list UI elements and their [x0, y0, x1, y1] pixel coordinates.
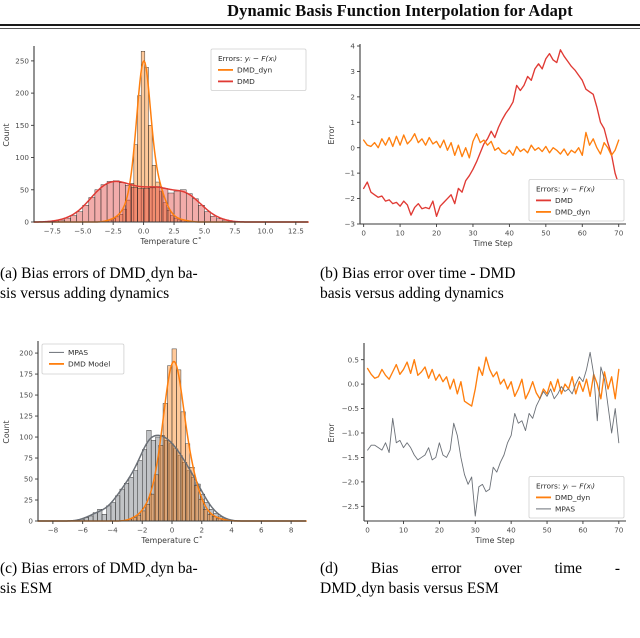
svg-text:Time Step: Time Step [472, 239, 512, 248]
svg-text:−6: −6 [77, 526, 88, 535]
plot-c: −8−6−4−2024680255075100125150175200Tempe… [0, 331, 320, 559]
svg-text:DMD_dyn: DMD_dyn [555, 208, 591, 217]
svg-text:−2.0: −2.0 [342, 477, 360, 486]
svg-text:Temperature C˚: Temperature C˚ [139, 237, 201, 246]
svg-text:4: 4 [350, 42, 355, 51]
svg-text:0: 0 [24, 218, 29, 227]
svg-text:20: 20 [432, 229, 442, 238]
svg-text:0: 0 [350, 143, 355, 152]
svg-text:0.0: 0.0 [138, 227, 150, 236]
svg-text:Errors: yᵢ − F(xᵢ): Errors: yᵢ − F(xᵢ) [536, 185, 595, 194]
subfigure-a: −7.5−5.0−2.50.02.55.07.510.012.505010015… [0, 36, 320, 326]
svg-text:−7.5: −7.5 [44, 227, 61, 236]
svg-text:40: 40 [505, 229, 515, 238]
svg-text:Time Step: Time Step [474, 536, 514, 545]
svg-text:−1.0: −1.0 [342, 429, 360, 438]
caption-a: (a) Bias errors of DMD‸dyn ba- sis versu… [0, 264, 320, 304]
svg-text:Count: Count [2, 123, 11, 146]
svg-text:3: 3 [350, 67, 355, 76]
plot-a: −7.5−5.0−2.50.02.55.07.510.012.505010015… [0, 36, 320, 264]
svg-text:25: 25 [24, 496, 33, 505]
figure-page: Dynamic Basis Function Interpolation for… [0, 0, 640, 638]
svg-text:−2.5: −2.5 [342, 502, 359, 511]
svg-text:200: 200 [15, 89, 29, 98]
subfigure-b: 010203040506070−3−2−101234Time StepError… [320, 36, 640, 326]
svg-text:DMD_dyn: DMD_dyn [237, 66, 273, 75]
caption-d-line2: DMD‸dyn basis versus ESM [320, 580, 499, 597]
svg-text:0: 0 [361, 229, 366, 238]
svg-text:0.0: 0.0 [348, 380, 360, 389]
caption-c-line2: sis ESM [0, 580, 52, 597]
svg-text:Errors: yᵢ − F(xᵢ): Errors: yᵢ − F(xᵢ) [218, 54, 277, 63]
svg-text:DMD_dyn: DMD_dyn [555, 493, 591, 502]
subfigure-d: 0102030405060700.50.0−0.5−1.0−1.5−2.0−2.… [320, 331, 640, 631]
svg-text:125: 125 [19, 412, 33, 421]
svg-text:12.5: 12.5 [288, 227, 304, 236]
caption-d-line1: (d) Bias error over time - [320, 559, 620, 579]
svg-text:2: 2 [350, 92, 355, 101]
svg-text:175: 175 [19, 370, 33, 379]
caption-d: (d) Bias error over time - DMD‸dyn basis… [320, 559, 632, 599]
svg-text:150: 150 [15, 121, 29, 130]
svg-text:−2: −2 [137, 526, 148, 535]
svg-text:5.0: 5.0 [199, 227, 211, 236]
svg-text:200: 200 [19, 349, 33, 358]
svg-text:4: 4 [229, 526, 234, 535]
svg-text:−8: −8 [48, 526, 59, 535]
svg-text:50: 50 [24, 475, 34, 484]
svg-text:50: 50 [20, 185, 30, 194]
svg-text:DMD: DMD [555, 196, 573, 205]
caption-b-line2: basis versus adding dynamics [320, 285, 504, 302]
svg-text:7.5: 7.5 [229, 227, 240, 236]
subfigure-c: −8−6−4−2024680255075100125150175200Tempe… [0, 331, 320, 631]
svg-text:60: 60 [578, 526, 588, 535]
svg-text:DMD Model: DMD Model [68, 360, 110, 369]
svg-text:20: 20 [435, 526, 445, 535]
svg-text:30: 30 [468, 229, 478, 238]
caption-b-line1: (b) Bias error over time - DMD [320, 265, 515, 282]
svg-text:10: 10 [399, 526, 409, 535]
svg-text:50: 50 [542, 526, 552, 535]
caption-c: (c) Bias errors of DMD‸dyn ba- sis ESM [0, 559, 320, 599]
caption-b: (b) Bias error over time - DMD basis ver… [320, 264, 640, 304]
svg-text:1: 1 [350, 118, 355, 127]
svg-text:2.5: 2.5 [168, 227, 179, 236]
caption-a-line1: (a) Bias errors of DMD‸dyn ba- [0, 265, 198, 282]
header-rule-thick [0, 24, 640, 26]
caption-c-line1: (c) Bias errors of DMD‸dyn ba- [0, 560, 198, 577]
svg-text:100: 100 [15, 153, 29, 162]
svg-text:MPAS: MPAS [555, 505, 575, 514]
svg-text:−2: −2 [344, 194, 355, 203]
svg-text:−0.5: −0.5 [342, 404, 359, 413]
page-header: Dynamic Basis Function Interpolation for… [0, 0, 640, 26]
svg-text:−2.5: −2.5 [104, 227, 121, 236]
page-title: Dynamic Basis Function Interpolation for… [0, 0, 640, 22]
svg-text:MPAS: MPAS [68, 348, 88, 357]
plot-b: 010203040506070−3−2−101234Time StepError… [320, 36, 640, 264]
svg-text:−1: −1 [344, 169, 355, 178]
svg-text:70: 70 [614, 526, 624, 535]
svg-text:Temperature C˚: Temperature C˚ [140, 536, 202, 545]
svg-text:40: 40 [507, 526, 517, 535]
svg-text:10.0: 10.0 [257, 227, 273, 236]
svg-text:8: 8 [289, 526, 294, 535]
svg-text:−4: −4 [107, 526, 118, 535]
svg-text:30: 30 [471, 526, 481, 535]
svg-text:0: 0 [365, 526, 370, 535]
svg-text:−3: −3 [344, 220, 355, 229]
svg-text:70: 70 [614, 229, 624, 238]
svg-text:60: 60 [578, 229, 588, 238]
plot-d: 0102030405060700.50.0−0.5−1.0−1.5−2.0−2.… [320, 331, 640, 559]
svg-text:−1.5: −1.5 [342, 453, 359, 462]
svg-text:Error: Error [327, 423, 336, 443]
svg-text:6: 6 [259, 526, 264, 535]
figure-grid: −7.5−5.0−2.50.02.55.07.510.012.505010015… [0, 36, 640, 638]
svg-text:Count: Count [2, 420, 11, 443]
svg-text:2: 2 [199, 526, 204, 535]
svg-text:Error: Error [327, 125, 336, 145]
svg-text:150: 150 [19, 391, 33, 400]
caption-a-line2: sis versus adding dynamics [0, 285, 169, 302]
svg-text:0.5: 0.5 [348, 355, 359, 364]
svg-text:10: 10 [396, 229, 406, 238]
svg-text:0: 0 [28, 517, 33, 526]
svg-text:75: 75 [24, 454, 33, 463]
header-rule-thin [0, 28, 640, 29]
svg-text:Errors: yᵢ − F(xᵢ): Errors: yᵢ − F(xᵢ) [536, 482, 595, 491]
svg-text:DMD: DMD [237, 77, 255, 86]
svg-text:50: 50 [541, 229, 551, 238]
svg-text:250: 250 [15, 56, 29, 65]
svg-text:0: 0 [170, 526, 175, 535]
svg-text:−5.0: −5.0 [74, 227, 92, 236]
svg-text:100: 100 [19, 433, 33, 442]
